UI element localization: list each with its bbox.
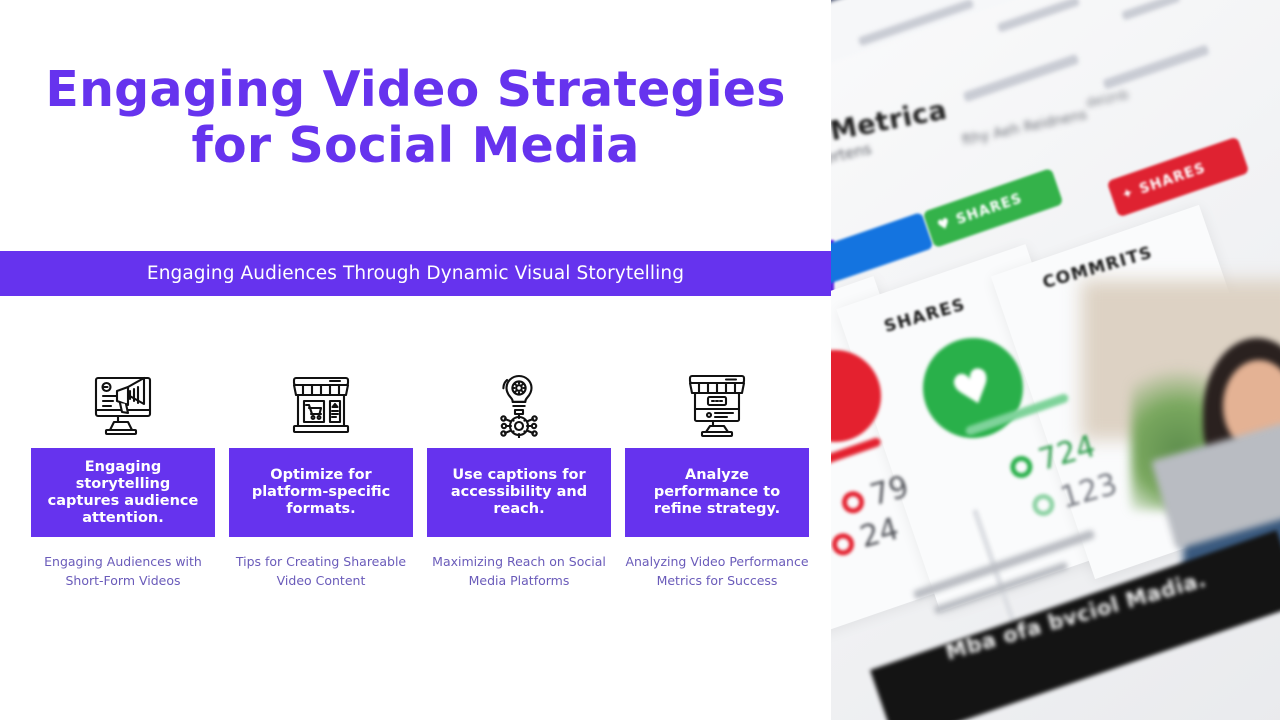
feature-caption-3: Maximizing Reach on Social Media Platfor…	[427, 553, 611, 590]
feature-card-2-text: Optimize for platform-specific formats.	[238, 467, 404, 518]
feature-card-3-text: Use captions for accessibility and reach…	[436, 467, 602, 518]
page-title: Engaging Video Strategies for Social Med…	[0, 62, 831, 174]
star-icon: ✦	[1120, 184, 1137, 203]
feature-card-2[interactable]: Optimize for platform-specific formats.	[229, 448, 413, 537]
clock-icon	[1008, 453, 1035, 480]
thumb-icon	[839, 488, 866, 515]
feature-column-4[interactable]: Analyze performance to refine strategy. …	[625, 362, 809, 590]
subtitle-text: Engaging Audiences Through Dynamic Visua…	[147, 263, 684, 284]
feature-card-1[interactable]: Engaging storytelling captures audience …	[31, 448, 215, 537]
content-panel: Engaging Video Strategies for Social Med…	[0, 0, 831, 720]
online-store-monitor-icon	[625, 362, 809, 448]
feature-card-4-text: Analyze performance to refine strategy.	[634, 467, 800, 518]
slide-root: a Metrica na Rertens fthy Aeh Reidnens d…	[0, 0, 1280, 720]
subtitle-band: Engaging Audiences Through Dynamic Visua…	[0, 251, 831, 296]
feature-caption-1: Engaging Audiences with Short-Form Video…	[31, 553, 215, 590]
circle-icon	[831, 530, 857, 557]
feature-column-2[interactable]: Optimize for platform-specific formats. …	[229, 362, 413, 590]
monitor-megaphone-icon	[31, 362, 215, 448]
feature-card-1-text: Engaging storytelling captures audience …	[40, 459, 206, 527]
feature-caption-4: Analyzing Video Performance Metrics for …	[625, 553, 809, 590]
comment-icon	[1030, 491, 1057, 518]
page-title-line-2: for Social Media	[0, 118, 831, 174]
feature-column-1[interactable]: Engaging storytelling captures audience …	[31, 362, 215, 590]
heart-icon: ♥	[936, 215, 954, 235]
page-title-line-1: Engaging Video Strategies	[0, 62, 831, 118]
feature-columns: Engaging storytelling captures audience …	[31, 362, 809, 590]
lightbulb-gear-network-icon	[427, 362, 611, 448]
feature-card-4[interactable]: Analyze performance to refine strategy.	[625, 448, 809, 537]
feature-column-3[interactable]: Use captions for accessibility and reach…	[427, 362, 611, 590]
storefront-cart-icon	[229, 362, 413, 448]
heart-icon: ♥	[945, 356, 1002, 420]
hero-photo: a Metrica na Rertens fthy Aeh Reidnens d…	[831, 0, 1280, 720]
feature-card-3[interactable]: Use captions for accessibility and reach…	[427, 448, 611, 537]
feature-caption-2: Tips for Creating Shareable Video Conten…	[229, 553, 413, 590]
